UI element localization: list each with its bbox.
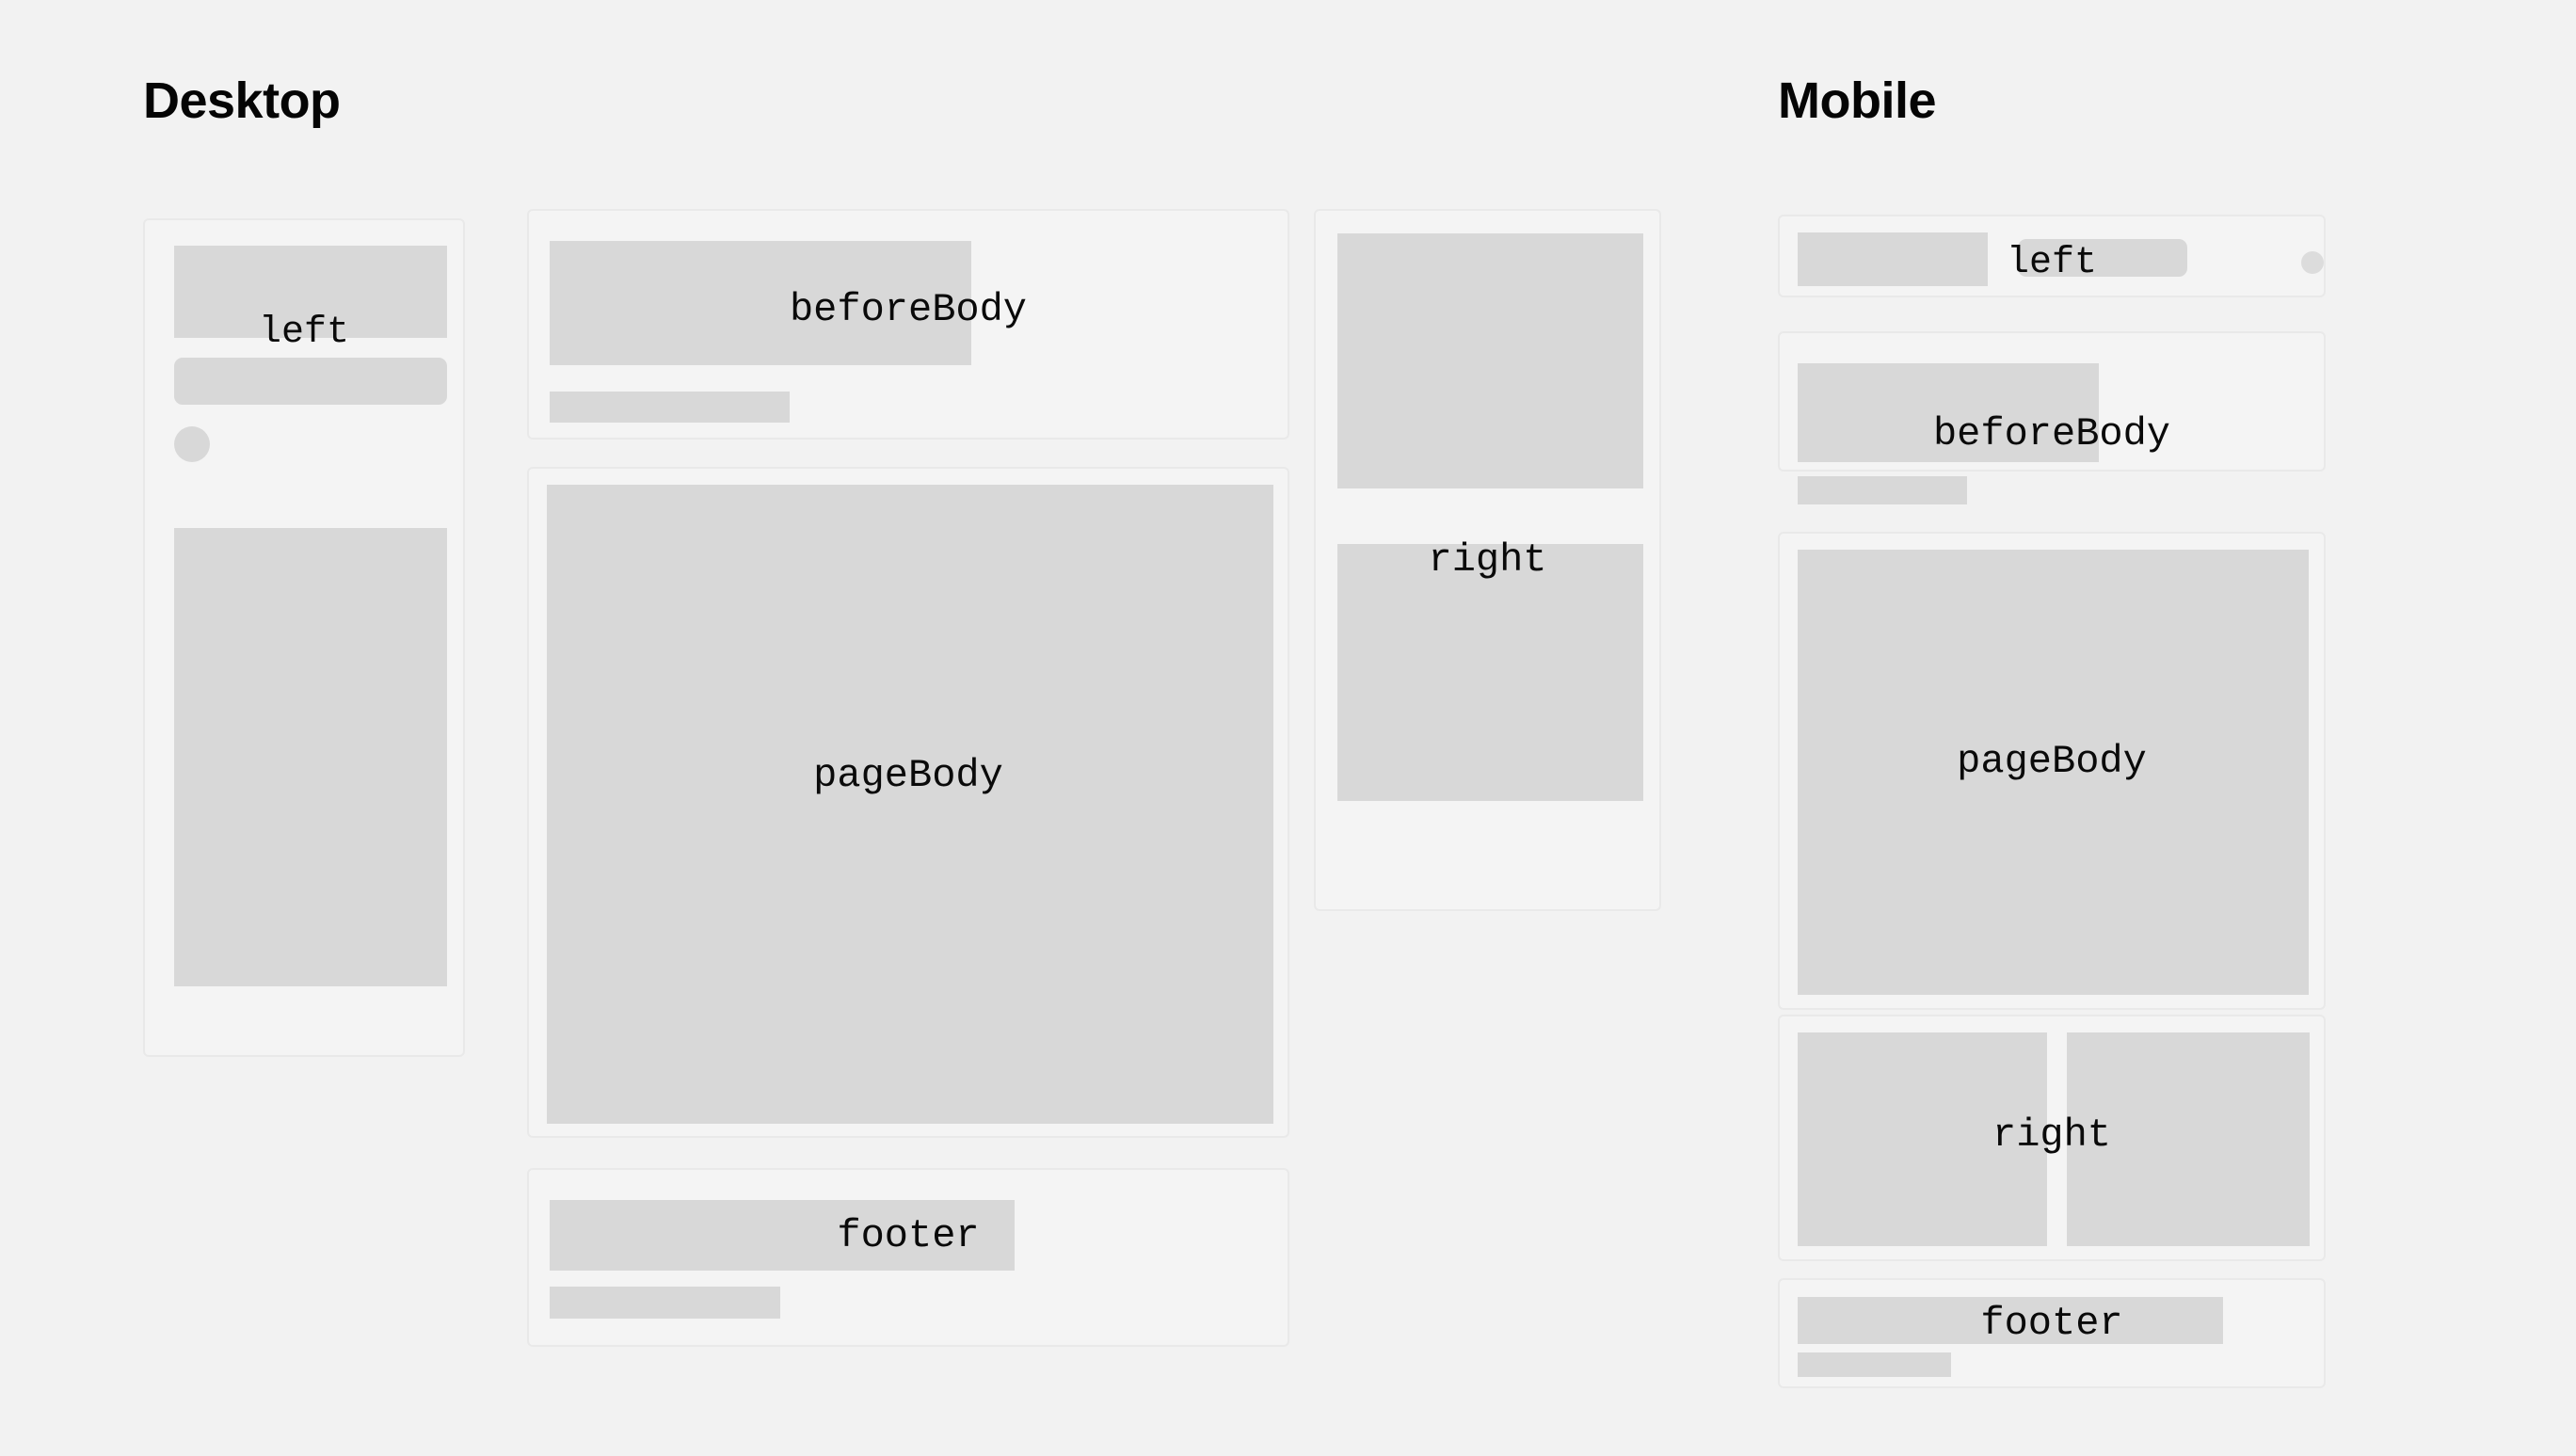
- mobile-region-right[interactable]: [1778, 1015, 2326, 1261]
- placeholder-block: [1798, 1032, 2047, 1246]
- placeholder-block: [550, 241, 971, 365]
- desktop-region-beforebody[interactable]: [527, 209, 1289, 440]
- mobile-column-heading: Mobile: [1778, 75, 1936, 126]
- placeholder-bar: [550, 1287, 780, 1319]
- placeholder-block: [1798, 1297, 2223, 1344]
- placeholder-block: [2067, 1032, 2310, 1246]
- mobile-region-footer[interactable]: [1778, 1278, 2326, 1388]
- mobile-region-pagebody[interactable]: [1778, 532, 2326, 1010]
- placeholder-bar: [1798, 476, 1967, 504]
- placeholder-block: [1337, 233, 1643, 488]
- placeholder-bar: [2018, 239, 2187, 277]
- placeholder-block-large: [1798, 550, 2309, 995]
- placeholder-block: [174, 246, 447, 338]
- placeholder-block: [550, 1200, 1015, 1271]
- desktop-region-footer[interactable]: [527, 1168, 1289, 1347]
- desktop-region-left[interactable]: [143, 218, 465, 1057]
- mobile-region-beforebody[interactable]: [1778, 331, 2326, 472]
- placeholder-block: [1798, 232, 1988, 286]
- mobile-region-left[interactable]: [1778, 215, 2326, 297]
- placeholder-bar: [1798, 1352, 1951, 1377]
- placeholder-avatar-circle: [174, 426, 210, 462]
- placeholder-avatar-circle: [2301, 251, 2324, 274]
- placeholder-block-large: [174, 528, 447, 986]
- desktop-region-pagebody[interactable]: [527, 467, 1289, 1138]
- layout-preview-canvas: Desktop left beforeBody pageBody footer …: [0, 0, 2576, 1456]
- desktop-region-right[interactable]: [1314, 209, 1661, 911]
- placeholder-bar: [550, 392, 790, 423]
- placeholder-bar: [174, 358, 447, 405]
- placeholder-block: [1337, 544, 1643, 801]
- placeholder-block-large: [547, 485, 1273, 1124]
- desktop-column-heading: Desktop: [143, 75, 341, 126]
- placeholder-block: [1798, 363, 2099, 462]
